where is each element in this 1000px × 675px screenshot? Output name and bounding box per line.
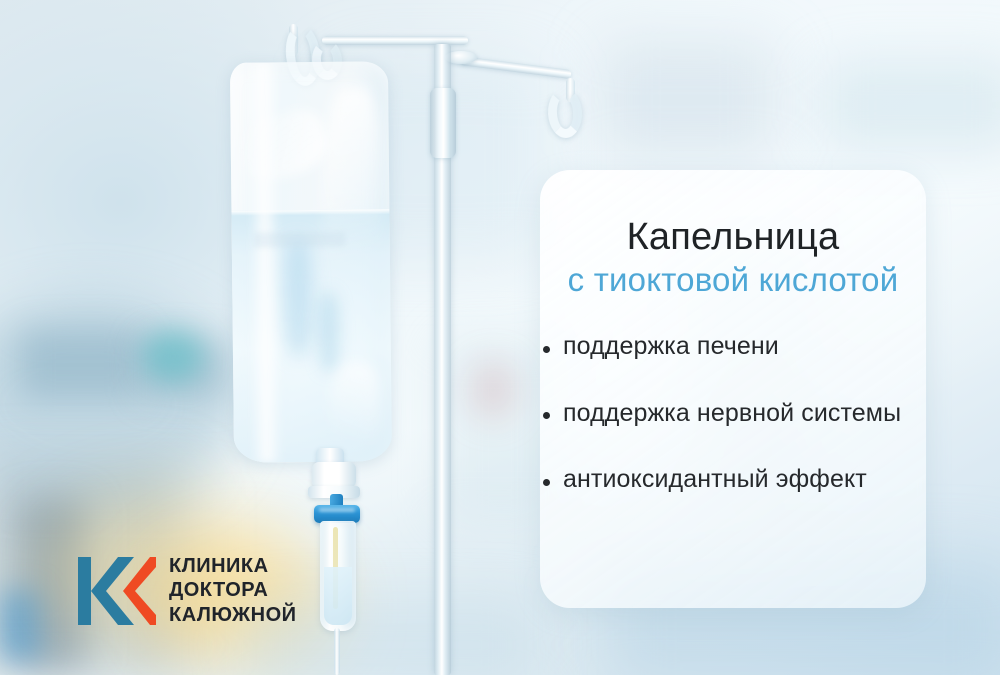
iv-bag-tint: [284, 238, 313, 358]
iv-fluid-bag: [230, 61, 392, 463]
iv-bag-sheen: [248, 62, 282, 462]
info-card: Капельница с тиоктовой кислотой поддержк…: [540, 170, 926, 608]
benefits-list: поддержка печени поддержка нервной систе…: [543, 330, 935, 496]
card-subtitle: с тиоктовой кислотой: [540, 262, 926, 299]
iv-bag-highlight: [322, 87, 382, 318]
bullet-dot-icon: [543, 479, 550, 486]
clinic-logo-text: КЛИНИКА ДОКТОРА КАЛЮЖНОЙ: [169, 555, 297, 628]
list-item-label: антиоксидантный эффект: [563, 465, 867, 493]
list-item: антиоксидантный эффект: [543, 463, 935, 496]
iv-bag-highlight: [329, 361, 380, 454]
logo-line-2: ДОКТОРА: [169, 579, 297, 603]
logo-line-1: КЛИНИКА: [169, 555, 297, 579]
kk-monogram-icon: [78, 551, 156, 631]
iv-stand-arm-right: [459, 56, 571, 79]
bullet-dot-icon: [543, 346, 550, 353]
iv-spike-collar: [312, 462, 356, 488]
iv-hook-right-icon: [547, 87, 584, 139]
iv-drip-chamber: [320, 521, 356, 631]
clinic-logo[interactable]: КЛИНИКА ДОКТОРА КАЛЮЖНОЙ: [78, 551, 297, 631]
iv-pole-collar: [430, 88, 456, 158]
list-item: поддержка нервной системы: [543, 397, 935, 430]
list-item-label: поддержка печени: [563, 332, 779, 360]
logo-line-3: КАЛЮЖНОЙ: [169, 604, 297, 628]
card-title: Капельница: [540, 216, 926, 259]
iv-tube: [334, 628, 340, 675]
iv-drip-fluid: [324, 567, 352, 625]
bullet-dot-icon: [543, 412, 550, 419]
list-item: поддержка печени: [543, 330, 935, 363]
list-item-label: поддержка нервной системы: [563, 399, 901, 427]
promo-banner: Капельница с тиоктовой кислотой поддержк…: [0, 0, 1000, 675]
iv-bag-label: [254, 232, 346, 248]
